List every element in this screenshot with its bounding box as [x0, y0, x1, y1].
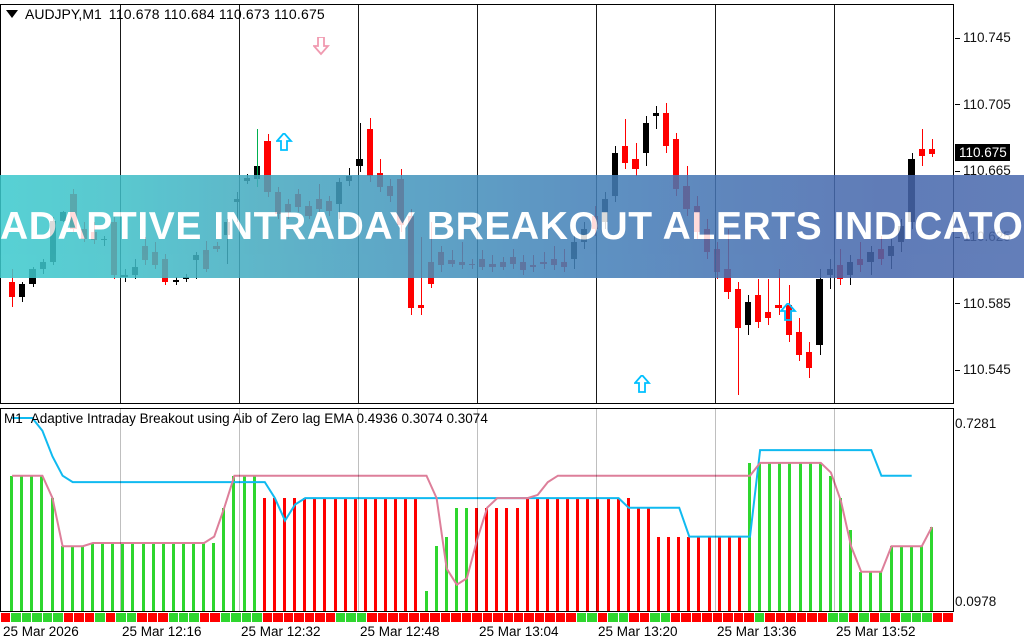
tick-volume-bar — [388, 613, 397, 622]
tick-volume-bar — [43, 613, 52, 622]
tick-volume-bar — [357, 613, 366, 622]
tick-volume-bar — [336, 613, 345, 622]
time-tick-label: 25 Mar 12:16 — [122, 624, 202, 639]
tick-volume-bar — [661, 613, 670, 622]
tick-volume-bar — [85, 613, 94, 622]
tick-volume-bar — [692, 613, 701, 622]
tick-volume-bar — [650, 613, 659, 622]
mt4-chart-window: AUDJPY,M1 110.678 110.684 110.673 110.67… — [0, 0, 1024, 640]
tick-volume-bar — [11, 613, 20, 622]
time-tick-label: 25 Mar 2026 — [3, 624, 79, 639]
tick-volume-bar — [608, 613, 617, 622]
tick-volume-bar — [880, 613, 889, 622]
tick-volume-bar — [158, 613, 167, 622]
tick-volume-bar — [74, 613, 83, 622]
tick-volume-bar — [64, 613, 73, 622]
tick-volume-bar — [943, 613, 952, 622]
tick-volume-bar — [797, 613, 806, 622]
ohlc-values: 110.678 110.684 110.673 110.675 — [109, 6, 325, 22]
tick-volume-bar — [577, 613, 586, 622]
tick-volume-bar — [734, 613, 743, 622]
tick-volume-bar — [346, 613, 355, 622]
tick-volume-bar — [169, 613, 178, 622]
price-tick: 110.545 — [955, 362, 1011, 377]
time-gridline — [120, 409, 121, 611]
tick-volume-bar — [933, 613, 942, 622]
indicator-scale[interactable]: 0.7281 0.0978 — [955, 408, 1024, 612]
tick-volume-bar — [723, 613, 732, 622]
tick-volume-bar — [106, 613, 115, 622]
tick-volume-bar — [273, 613, 282, 622]
tick-volume-strip — [1, 613, 953, 622]
tick-volume-bar — [744, 613, 753, 622]
time-tick-label: 25 Mar 13:52 — [836, 624, 916, 639]
time-gridline — [477, 409, 478, 611]
tick-volume-bar — [399, 613, 408, 622]
tick-volume-bar — [671, 613, 680, 622]
tick-volume-bar — [200, 613, 209, 622]
tick-volume-bar — [859, 613, 868, 622]
tick-volume-bar — [640, 613, 649, 622]
time-tick-label: 25 Mar 12:48 — [360, 624, 440, 639]
promo-banner: ADAPTIVE INTRADAY BREAKOUT ALERTS INDICA… — [0, 175, 1024, 278]
buy-signal-arrow-icon — [276, 133, 293, 157]
tick-volume-bar — [231, 613, 240, 622]
current-price-label: 110.675 — [955, 144, 1010, 161]
tick-volume-bar — [566, 613, 575, 622]
indicator-pane[interactable] — [0, 408, 954, 612]
indicator-scale-min: 0.0978 — [955, 594, 996, 609]
buy-signal-arrow-icon — [634, 375, 651, 399]
indicator-plot-area[interactable] — [1, 409, 953, 611]
tick-volume-bar — [22, 613, 31, 622]
tick-volume-bar — [828, 613, 837, 622]
time-tick-label: 25 Mar 12:32 — [241, 624, 321, 639]
tick-volume-bar — [179, 613, 188, 622]
tick-volume-bar — [462, 613, 471, 622]
tick-volume-bar — [619, 613, 628, 622]
tick-volume-bar — [210, 613, 219, 622]
tick-volume-bar — [776, 613, 785, 622]
tick-volume-bar — [556, 613, 565, 622]
tick-volume-bar — [430, 613, 439, 622]
tick-volume-bar — [786, 613, 795, 622]
tick-volume-bar — [483, 613, 492, 622]
time-tick-label: 25 Mar 13:04 — [479, 624, 559, 639]
tick-volume-bar — [420, 613, 429, 622]
tick-volume-bar — [587, 613, 596, 622]
tick-volume-bar — [441, 613, 450, 622]
tick-volume-bar — [765, 613, 774, 622]
tick-volume-bar — [137, 613, 146, 622]
indicator-timeframe-label: M1 — [4, 411, 23, 426]
tick-volume-bar — [53, 613, 62, 622]
time-axis[interactable]: 25 Mar 202625 Mar 12:1625 Mar 12:3225 Ma… — [0, 613, 954, 640]
price-tick: 110.585 — [955, 296, 1011, 311]
tick-volume-bar — [912, 613, 921, 622]
tick-volume-bar — [545, 613, 554, 622]
tick-volume-bar — [922, 613, 931, 622]
time-tick-label: 25 Mar 13:36 — [717, 624, 797, 639]
tick-volume-bar — [629, 613, 638, 622]
tick-volume-bar — [127, 613, 136, 622]
sell-signal-arrow-icon — [313, 37, 330, 61]
tick-volume-bar — [901, 613, 910, 622]
tick-volume-bar — [535, 613, 544, 622]
tick-volume-bar — [891, 613, 900, 622]
tick-volume-bar — [598, 613, 607, 622]
tick-volume-bar — [284, 613, 293, 622]
tick-volume-bar — [367, 613, 376, 622]
tick-volume-bar — [242, 613, 251, 622]
buy-signal-arrow-icon — [780, 303, 797, 327]
time-gridline — [239, 409, 240, 611]
tick-volume-bar — [818, 613, 827, 622]
tick-volume-bar — [713, 613, 722, 622]
tick-volume-bar — [263, 613, 272, 622]
price-tick: 110.745 — [955, 30, 1011, 45]
tick-volume-bar — [472, 613, 481, 622]
indicator-name-label: Adaptive Intraday Breakout using Aib of … — [31, 411, 488, 426]
time-gridline — [596, 409, 597, 611]
tick-volume-bar — [839, 613, 848, 622]
tick-volume-bar — [681, 613, 690, 622]
indicator-scale-max: 0.7281 — [955, 416, 996, 431]
chart-header: AUDJPY,M1 110.678 110.684 110.673 110.67… — [6, 6, 325, 22]
symbol-label: AUDJPY,M1 — [25, 6, 102, 22]
time-gridline — [715, 409, 716, 611]
tick-volume-bar — [189, 613, 198, 622]
tick-volume-bar — [849, 613, 858, 622]
tick-volume-bar — [504, 613, 513, 622]
tick-volume-bar — [148, 613, 157, 622]
tick-volume-bar — [755, 613, 764, 622]
tick-volume-bar — [378, 613, 387, 622]
tick-volume-bar — [870, 613, 879, 622]
tick-volume-bar — [1, 613, 10, 622]
tick-volume-bar — [524, 613, 533, 622]
tick-volume-bar — [252, 613, 261, 622]
promo-banner-title: ADAPTIVE INTRADAY BREAKOUT ALERTS INDICA… — [0, 205, 1024, 249]
tick-volume-bar — [514, 613, 523, 622]
time-gridline — [834, 409, 835, 611]
indicator-header: M1 Adaptive Intraday Breakout using Aib … — [4, 411, 488, 426]
time-tick-label: 25 Mar 13:20 — [598, 624, 678, 639]
tick-volume-bar — [326, 613, 335, 622]
tick-volume-bar — [116, 613, 125, 622]
tick-volume-bar — [95, 613, 104, 622]
tick-volume-bar — [702, 613, 711, 622]
time-gridline — [358, 409, 359, 611]
tick-volume-bar — [305, 613, 314, 622]
tick-volume-bar — [221, 613, 230, 622]
tick-volume-bar — [807, 613, 816, 622]
tick-volume-bar — [451, 613, 460, 622]
tick-volume-bar — [294, 613, 303, 622]
tick-volume-bar — [32, 613, 41, 622]
tick-volume-bar — [315, 613, 324, 622]
tick-volume-bar — [409, 613, 418, 622]
triangle-down-icon[interactable] — [6, 10, 18, 18]
price-tick: 110.705 — [955, 97, 1011, 112]
tick-volume-bar — [493, 613, 502, 622]
